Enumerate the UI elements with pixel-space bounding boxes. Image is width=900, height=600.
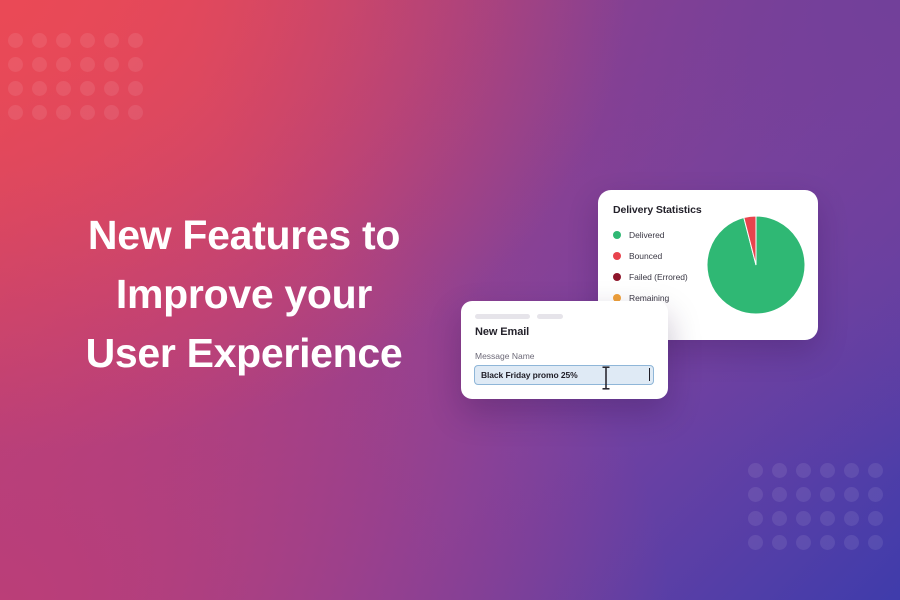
decorative-dot — [104, 33, 119, 48]
decorative-dot — [104, 57, 119, 72]
decorative-dot — [796, 511, 811, 526]
decorative-dot — [844, 511, 859, 526]
decorative-dot — [32, 57, 47, 72]
skeleton-placeholder-bar-short — [537, 314, 563, 319]
decorative-dot — [80, 57, 95, 72]
legend-label: Failed (Errored) — [629, 272, 688, 282]
decorative-dot — [796, 487, 811, 502]
ibeam-cursor-icon — [600, 365, 612, 391]
decorative-dot — [56, 33, 71, 48]
decorative-dot — [820, 535, 835, 550]
legend-item: Failed (Errored) — [613, 266, 688, 287]
legend-swatch-icon — [613, 252, 621, 260]
decorative-dot — [104, 81, 119, 96]
headline-line-1: New Features to — [44, 206, 444, 265]
decorative-dot — [844, 535, 859, 550]
decorative-dot — [8, 81, 23, 96]
stats-card-title: Delivery Statistics — [613, 204, 702, 216]
decorative-dot — [796, 535, 811, 550]
skeleton-placeholder-bar-long — [475, 314, 530, 319]
decorative-dot — [8, 33, 23, 48]
decorative-dot — [8, 105, 23, 120]
headline-line-3: User Experience — [44, 324, 444, 383]
decorative-dot — [748, 487, 763, 502]
decorative-dot — [868, 535, 883, 550]
chart-legend: DeliveredBouncedFailed (Errored)Remainin… — [613, 224, 688, 308]
promo-banner: New Features to Improve your User Experi… — [0, 0, 900, 600]
legend-item: Bounced — [613, 245, 688, 266]
decorative-dot-grid-top-left — [8, 33, 152, 129]
decorative-dot-grid-bottom-right — [748, 463, 892, 559]
decorative-dot — [128, 81, 143, 96]
message-name-label: Message Name — [475, 351, 535, 361]
decorative-dot — [56, 57, 71, 72]
decorative-dot — [844, 463, 859, 478]
decorative-dot — [56, 105, 71, 120]
decorative-dot — [868, 511, 883, 526]
decorative-dot — [128, 57, 143, 72]
decorative-dot — [56, 81, 71, 96]
decorative-dot — [868, 463, 883, 478]
page-title: New Features to Improve your User Experi… — [44, 206, 444, 383]
decorative-dot — [32, 81, 47, 96]
decorative-dot — [820, 511, 835, 526]
decorative-dot — [748, 511, 763, 526]
legend-label: Bounced — [629, 251, 662, 261]
legend-label: Delivered — [629, 230, 664, 240]
text-caret — [649, 368, 650, 381]
legend-swatch-icon — [613, 231, 621, 239]
decorative-dot — [748, 535, 763, 550]
decorative-dot — [80, 105, 95, 120]
decorative-dot — [80, 33, 95, 48]
decorative-dot — [128, 105, 143, 120]
decorative-dot — [796, 463, 811, 478]
legend-item: Delivered — [613, 224, 688, 245]
decorative-dot — [772, 487, 787, 502]
decorative-dot — [8, 57, 23, 72]
decorative-dot — [772, 535, 787, 550]
delivery-pie-chart — [706, 215, 806, 315]
decorative-dot — [32, 105, 47, 120]
decorative-dot — [820, 463, 835, 478]
decorative-dot — [772, 463, 787, 478]
decorative-dot — [128, 33, 143, 48]
headline-line-2: Improve your — [44, 265, 444, 324]
decorative-dot — [772, 511, 787, 526]
decorative-dot — [844, 487, 859, 502]
decorative-dot — [104, 105, 119, 120]
new-email-card: New Email Message Name — [461, 301, 668, 399]
decorative-dot — [748, 463, 763, 478]
decorative-dot — [820, 487, 835, 502]
legend-swatch-icon — [613, 273, 621, 281]
decorative-dot — [80, 81, 95, 96]
message-name-input[interactable] — [474, 365, 654, 385]
decorative-dot — [868, 487, 883, 502]
decorative-dot — [32, 33, 47, 48]
new-email-title: New Email — [475, 326, 529, 338]
